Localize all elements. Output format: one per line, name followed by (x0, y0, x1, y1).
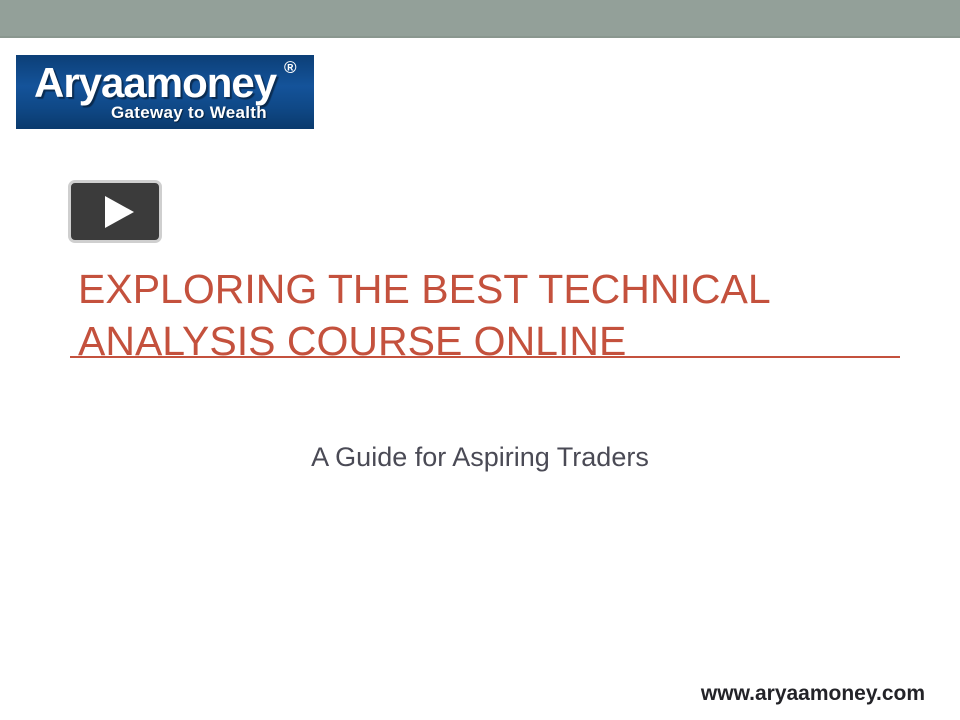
logo-tagline: Gateway to Wealth (111, 103, 267, 123)
play-button[interactable] (68, 180, 162, 243)
aryaamoney-logo[interactable]: Aryaamoney ® Gateway to Wealth (16, 55, 314, 129)
logo-wordmark: Aryaamoney (34, 57, 276, 109)
slide-title: Exploring the Best Technical Analysis Co… (78, 263, 908, 367)
title-divider (70, 356, 900, 358)
registered-trademark-icon: ® (284, 59, 297, 76)
slide-subtitle: A Guide for Aspiring Traders (60, 440, 900, 474)
footer-website-url[interactable]: www.aryaamoney.com (40, 681, 925, 707)
presentation-slide: Aryaamoney ® Gateway to Wealth Exploring… (0, 0, 960, 720)
play-icon (105, 196, 134, 228)
top-accent-bar (0, 0, 960, 38)
